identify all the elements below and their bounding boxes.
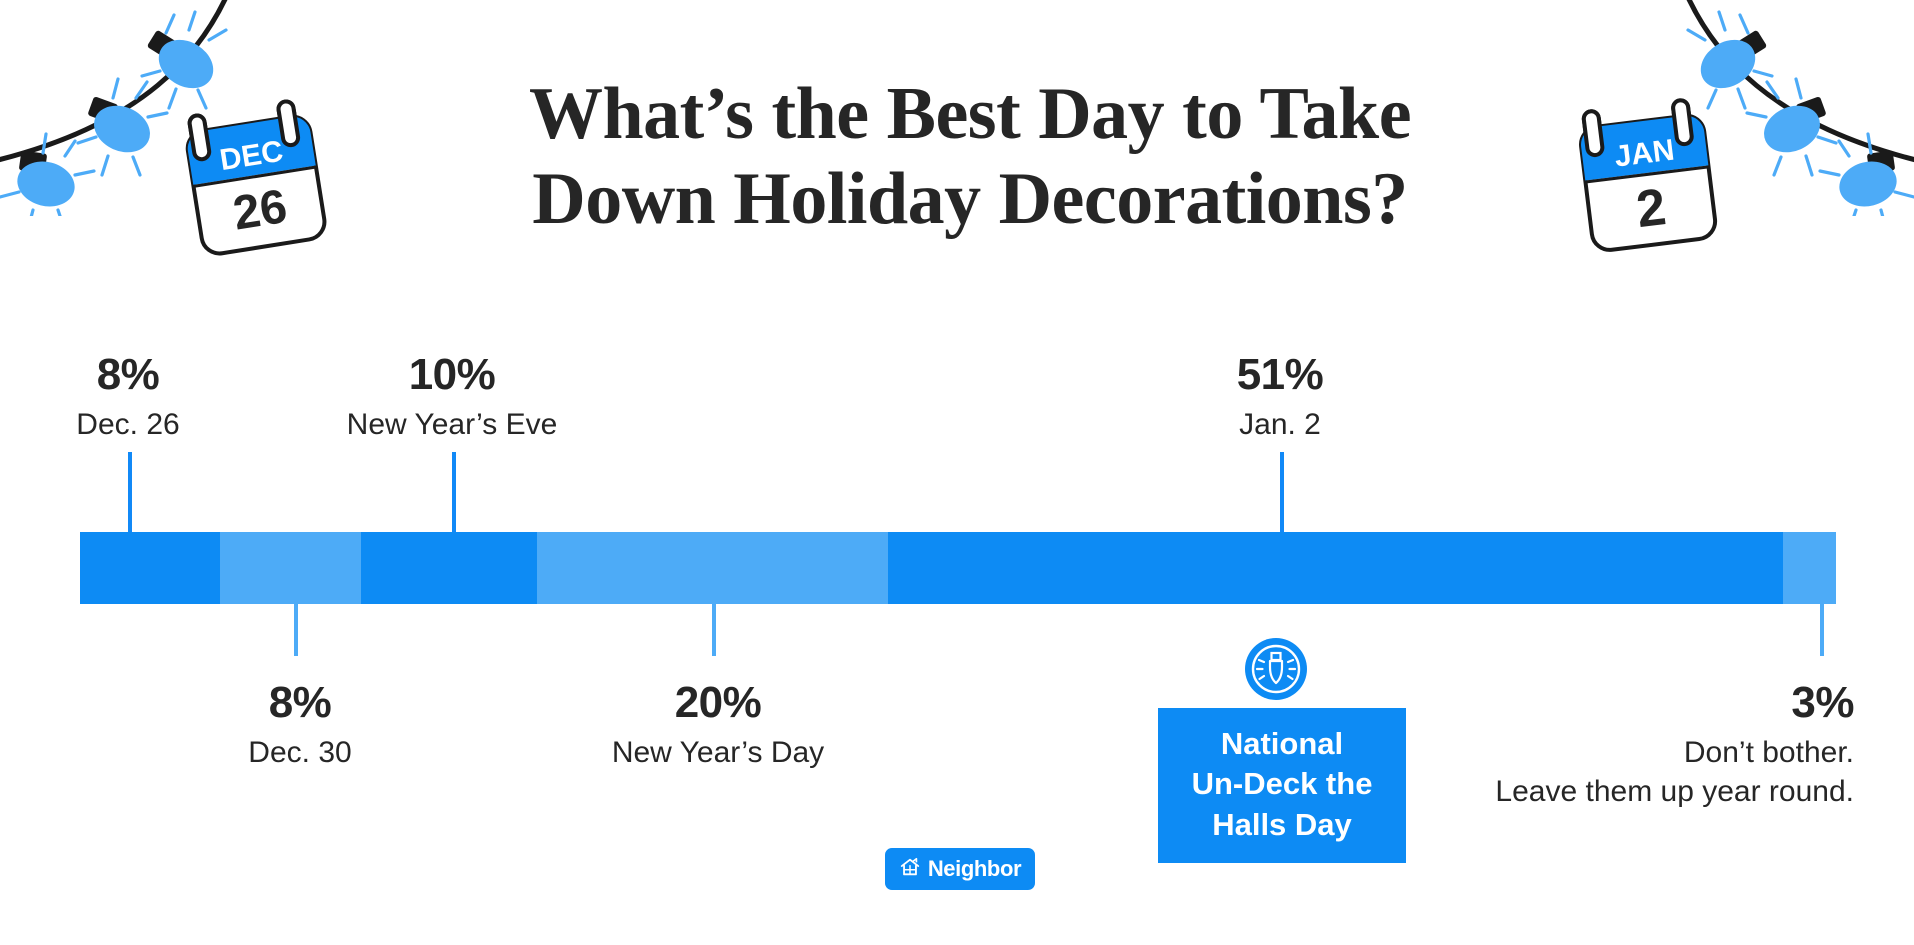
label-jan-2-caption: Jan. 2 [1237,406,1324,444]
tick-dec-30 [294,604,298,656]
segment-dec-30 [220,532,360,604]
tick-dec-26 [128,452,132,532]
infographic-canvas: DEC 26 JAN 2 What’s the Best Day to Take… [0,0,1914,945]
tick-dont-bother [1820,604,1824,656]
label-new-years-day-caption: New Year’s Day [612,734,824,772]
label-dec-30-pct: 8% [248,680,351,726]
segment-dec-26 [80,532,220,604]
label-dont-bother: 3% Don’t bother. Leave them up year roun… [1495,680,1854,811]
stacked-bar-chart: 8% Dec. 26 10% New Year’s Eve 51% Jan. 2… [0,0,1914,945]
segment-dont-bother [1783,532,1836,604]
label-new-years-eve-caption: New Year’s Eve [347,406,558,444]
neighbor-logo[interactable]: Neighbor [885,848,1035,890]
tick-jan-2 [1280,452,1284,532]
segment-new-years-eve [361,532,537,604]
segment-new-years-day [537,532,888,604]
tick-new-years-eve [452,452,456,532]
christmas-light-bulb-icon [1245,638,1307,700]
label-new-years-day: 20% New Year’s Day [612,680,824,773]
neighbor-logo-text: Neighbor [928,856,1021,882]
label-dont-bother-caption: Don’t bother. [1495,734,1854,772]
label-jan-2: 51% Jan. 2 [1237,352,1324,445]
label-dec-26: 8% Dec. 26 [76,352,179,445]
segment-jan-2 [888,532,1784,604]
label-new-years-eve-pct: 10% [347,352,558,398]
bar-track [80,532,1836,604]
label-dec-26-pct: 8% [76,352,179,398]
label-dec-26-caption: Dec. 26 [76,406,179,444]
label-dont-bother-caption-line-2: Leave them up year round. [1495,773,1854,811]
label-new-years-day-pct: 20% [612,680,824,726]
label-dec-30-caption: Dec. 30 [248,734,351,772]
callout-line-2: Un-Deck the [1162,764,1402,804]
label-dont-bother-pct: 3% [1495,680,1854,726]
callout-line-3: Halls Day [1162,805,1402,845]
house-icon [899,856,921,883]
tick-new-years-day [712,604,716,656]
label-jan-2-pct: 51% [1237,352,1324,398]
national-day-callout: National Un-Deck the Halls Day [1158,708,1406,863]
label-new-years-eve: 10% New Year’s Eve [347,352,558,445]
callout-line-1: National [1162,724,1402,764]
label-dec-30: 8% Dec. 30 [248,680,351,773]
